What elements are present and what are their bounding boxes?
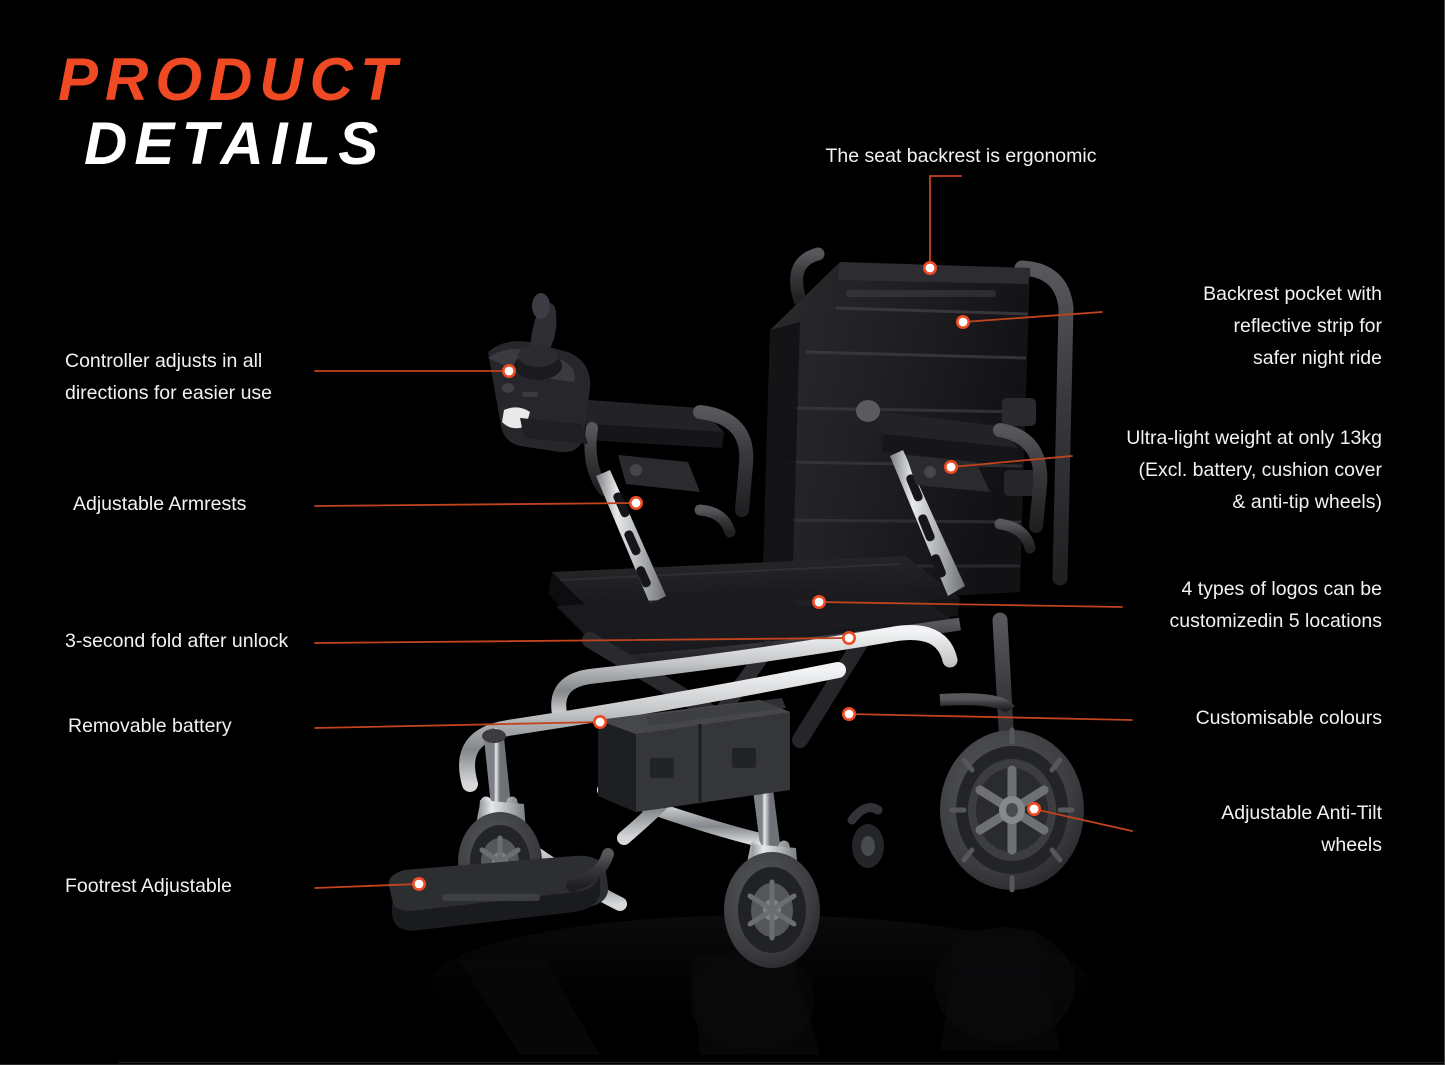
product-details-infographic: PRODUCT DETAILS The seat backrest is erg… [0,0,1445,1065]
anti-tilt-wheel [852,808,884,868]
annotation-label-logo-customisation: 4 types of logos can be customizedin 5 l… [1140,573,1382,637]
annotation-label-three-second-fold: 3-second fold after unlock [65,625,305,657]
annotation-label-customisable-colours: Customisable colours [1150,702,1382,734]
annotation-label-removable-battery: Removable battery [68,710,305,742]
rear-wheels [940,730,1084,890]
joystick-controller [488,293,590,452]
annotation-label-adjustable-armrests: Adjustable Armrests [73,488,305,520]
annotation-label-footrest-adjustable: Footrest Adjustable [65,870,305,902]
annotation-label-seat-backrest-ergonomic: The seat backrest is ergonomic [816,140,1106,172]
page-title: PRODUCT DETAILS [58,48,404,176]
annotation-label-controller-adjusts: Controller adjusts in all directions for… [65,345,305,409]
title-line-product: PRODUCT [58,48,404,112]
annotation-label-backrest-pocket: Backrest pocket with reflective strip fo… [1120,278,1382,374]
footplate [389,854,609,931]
annotation-label-ultra-light-weight: Ultra-light weight at only 13kg (Excl. b… [1090,422,1382,518]
annotation-label-adjustable-anti-tilt-wheels: Adjustable Anti-Tilt wheels [1150,797,1382,861]
frame-edge-bottom-inner [118,1062,1445,1063]
title-line-details: DETAILS [84,112,404,176]
